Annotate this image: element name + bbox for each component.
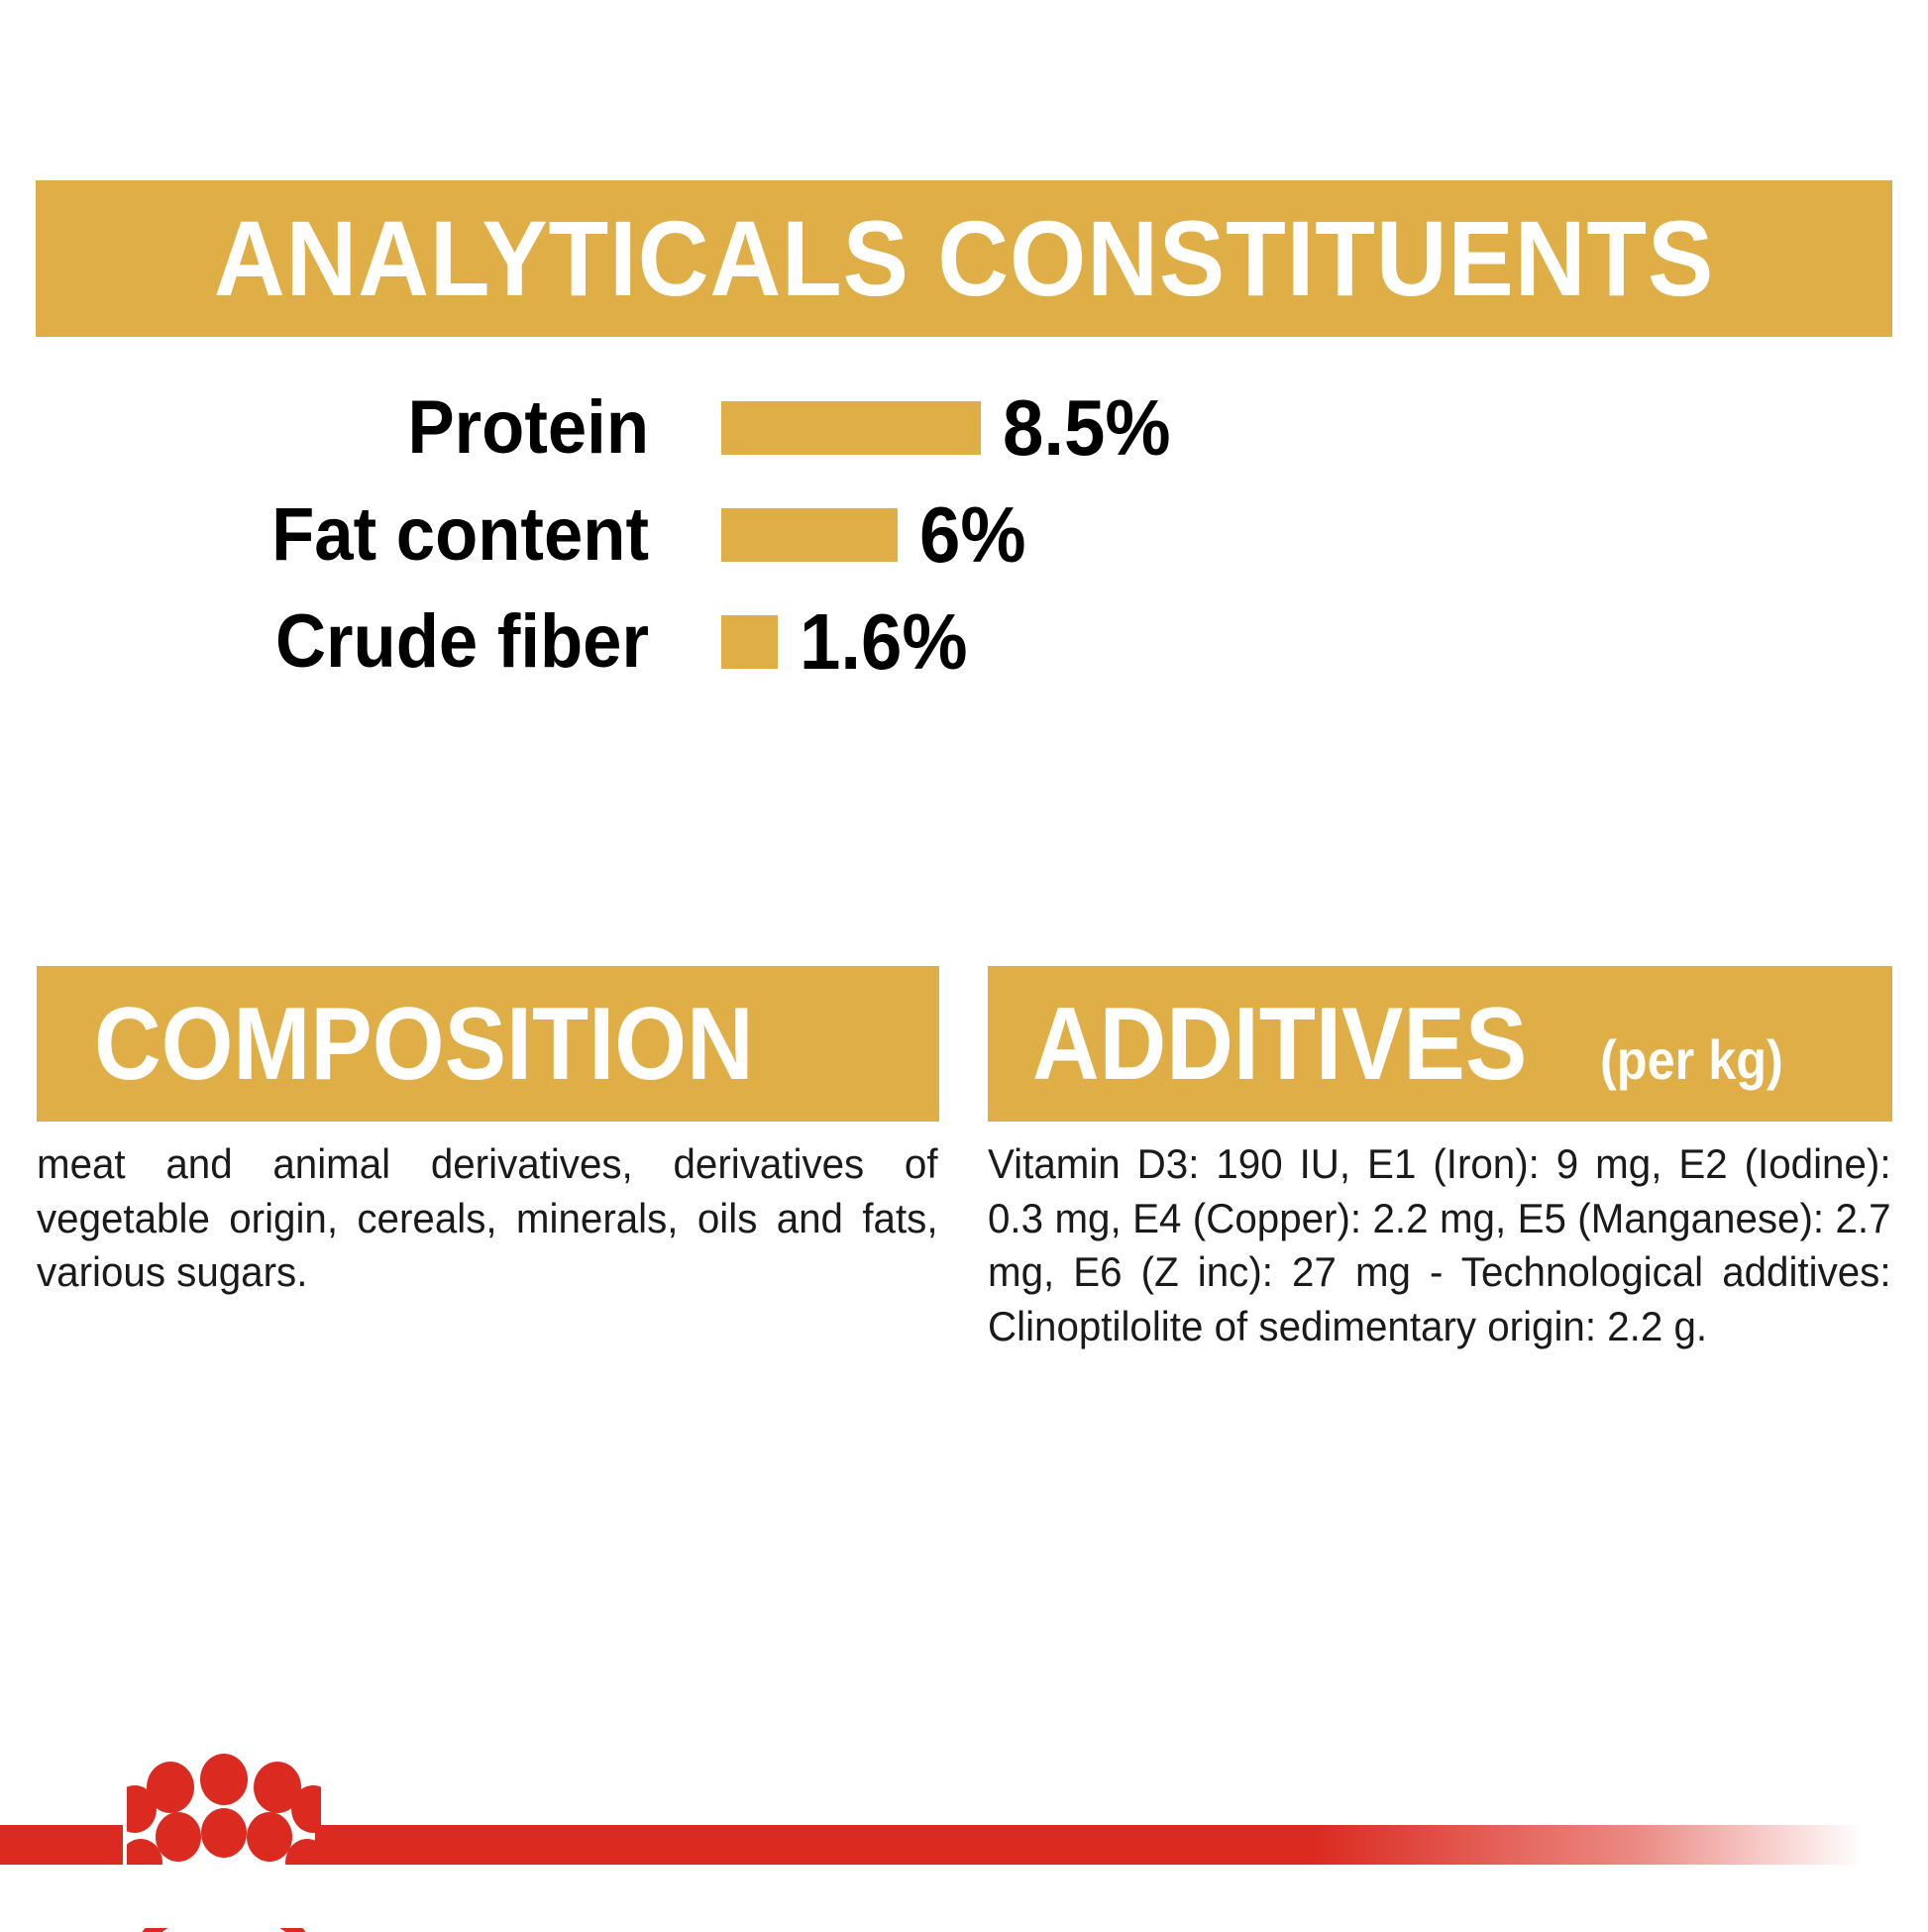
additives-body-text: Vitamin D3: 190 IU, E1 (Iron): 9 mg, E2 …	[988, 1137, 1891, 1353]
constituent-bar-wrap-fat-content: 6%	[721, 495, 1034, 575]
constituent-row-fat-content: Fat content 6%	[0, 482, 1288, 589]
additives-header: ADDITIVES (per kg)	[988, 966, 1892, 1122]
constituent-bar-wrap-protein: 8.5%	[721, 388, 1183, 468]
composition-section: COMPOSITION meat and animal derivatives,…	[37, 966, 939, 1300]
composition-header-label: COMPOSITION	[94, 993, 754, 1096]
analyticals-constituents-banner: ANALYTICALS CONSTITUENTS	[36, 180, 1892, 337]
constituent-bar-protein	[721, 401, 981, 455]
additives-section: ADDITIVES (per kg) Vitamin D3: 190 IU, E…	[988, 966, 1892, 1353]
constituent-row-protein: Protein 8.5%	[0, 375, 1288, 482]
constituent-label-protein: Protein	[46, 390, 649, 466]
constituent-bar-fat-content	[721, 508, 898, 562]
constituent-value-fat-content: 6%	[919, 495, 1026, 575]
constituents-chart: Protein 8.5% Fat content 6% Crude fiber …	[0, 375, 1288, 696]
constituent-row-crude-fiber: Crude fiber 1.6%	[0, 589, 1288, 696]
composition-header: COMPOSITION	[37, 966, 939, 1122]
additives-header-label: ADDITIVES	[1032, 993, 1527, 1096]
constituent-value-crude-fiber: 1.6%	[800, 602, 968, 682]
constituent-label-crude-fiber: Crude fiber	[46, 604, 649, 680]
composition-body-text: meat and animal derivatives, derivatives…	[37, 1137, 938, 1300]
constituent-bar-crude-fiber	[721, 615, 778, 669]
constituent-label-fat-content: Fat content	[46, 497, 649, 573]
constituent-value-protein: 8.5%	[1003, 388, 1171, 468]
page-title: ANALYTICALS CONSTITUENTS	[214, 205, 1714, 312]
constituent-bar-wrap-crude-fiber: 1.6%	[721, 602, 980, 682]
additives-header-per-kg-label: (per kg)	[1600, 1032, 1783, 1088]
bottom-white-fade	[0, 1865, 1928, 1928]
